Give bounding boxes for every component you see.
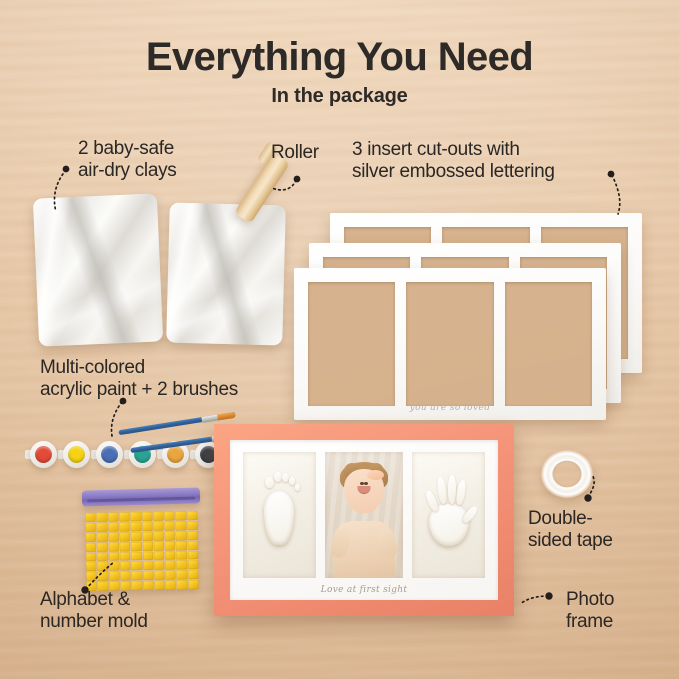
product-infographic: Everything You Need In the package Bundl… (0, 0, 679, 679)
leader-line-clays (0, 0, 679, 679)
